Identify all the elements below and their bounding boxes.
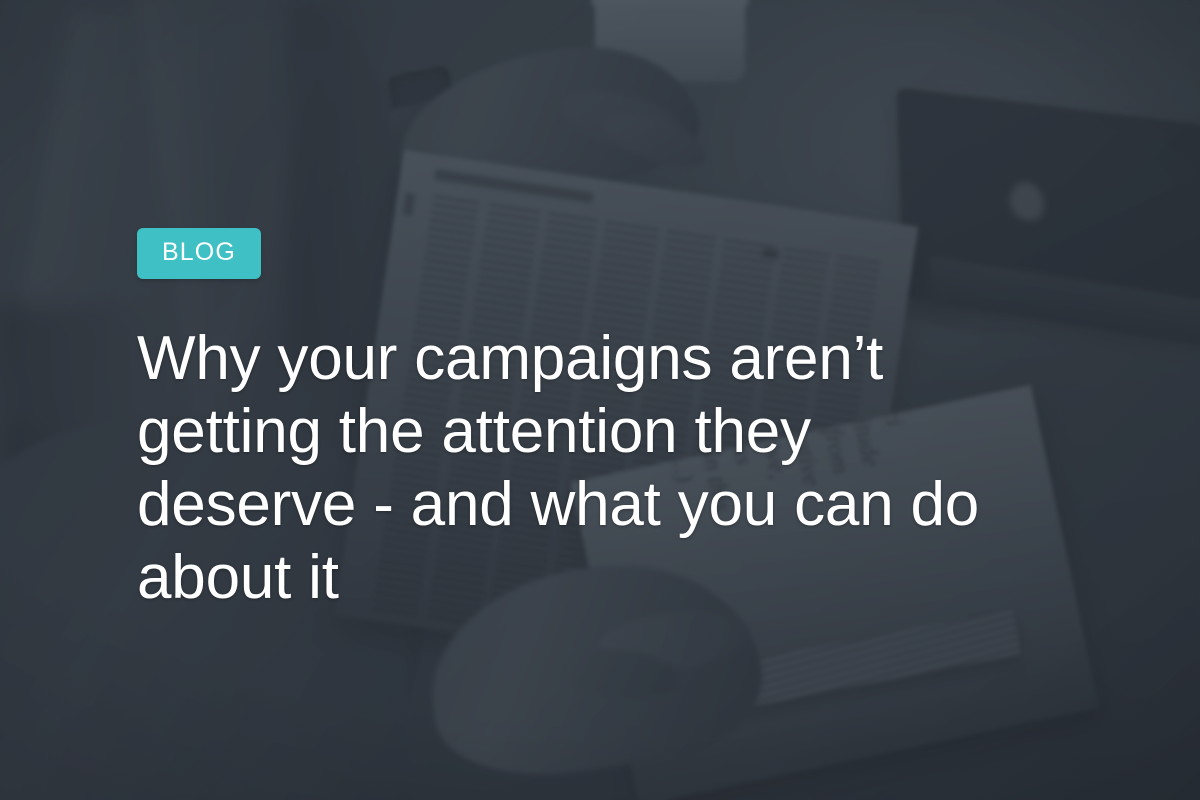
category-badge-blog[interactable]: BLOG [137,228,261,279]
page-title: Why your campaigns aren’t getting the at… [137,322,1017,614]
blog-hero-banner: hist s offici al attitude ories from alt… [0,0,1200,800]
hero-content: BLOG Why your campaigns aren’t getting t… [137,228,1037,614]
